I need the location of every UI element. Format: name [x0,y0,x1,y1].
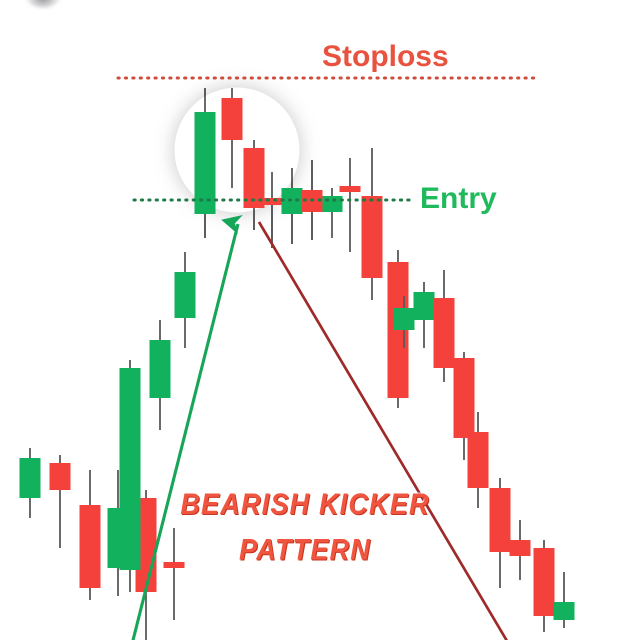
candle-body [468,432,489,488]
entry-label: Entry [420,182,497,216]
candle-body [534,548,555,616]
candle-body [340,186,361,192]
candle-body [20,458,41,498]
candle-body [554,602,575,620]
candle-body [454,358,475,438]
candle-body [50,463,71,490]
candle-body [262,198,283,205]
candle-body [322,196,343,212]
pattern-title-line-1: BEARISH KICKER [170,483,440,528]
chart-canvas: Stoploss Entry BEARISH KICKER PATTERN [0,0,640,640]
candle-body [150,340,171,398]
pattern-title-line-2: PATTERN [170,528,440,573]
candle-body [510,540,531,556]
candle-body [490,488,511,552]
candle-body [414,292,435,320]
candle-body [394,308,415,330]
candle-body [120,368,141,570]
candle-body [80,505,101,588]
stoploss-label: Stoploss [322,40,449,74]
candle-body [434,298,455,368]
candle-body [282,188,303,214]
candle-body [195,112,216,214]
candle-body [222,98,243,140]
candle-body [175,272,196,318]
pattern-title: BEARISH KICKER PATTERN [170,483,440,573]
candle-body [362,196,383,278]
